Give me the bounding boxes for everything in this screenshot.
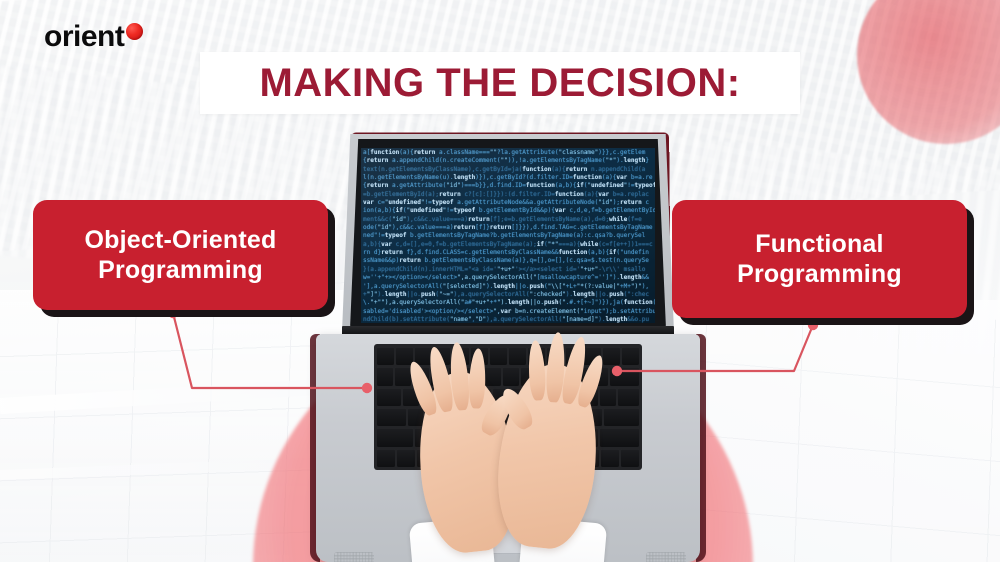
- keyboard-key: [621, 449, 639, 467]
- keyboard-key: [377, 428, 413, 446]
- keyboard-key: [377, 388, 401, 406]
- laptop-speaker-left: [334, 552, 374, 562]
- laptop-screen: a[function(a){return a.className===""?la…: [361, 148, 655, 323]
- laptop-speaker-right: [646, 552, 686, 562]
- brand-logo[interactable]: orient: [44, 20, 143, 54]
- keyboard-key: [600, 388, 616, 406]
- keyboard-key: [377, 449, 395, 467]
- keyboard-key: [408, 408, 424, 426]
- keyboard-key: [618, 388, 639, 406]
- keyboard-key: [610, 367, 639, 385]
- keyboard-key: [377, 408, 406, 426]
- option-card-object-oriented[interactable]: Object-Oriented Programming: [33, 200, 328, 310]
- red-sphere-dot-icon: [126, 23, 143, 40]
- title-banner: MAKING THE DECISION:: [200, 52, 800, 114]
- keyboard-key: [601, 449, 619, 467]
- laptop-illustration: a[function(a){return a.className===""?la…: [312, 128, 704, 562]
- keyboard-key: [397, 449, 415, 467]
- keyboard-key: [377, 347, 394, 365]
- screen-code-text: a[function(a){return a.className===""?la…: [363, 149, 655, 323]
- keyboard-key: [600, 428, 639, 446]
- option-card-functional[interactable]: Functional Programming: [672, 200, 967, 318]
- keyboard-key: [509, 347, 526, 365]
- option-card-label: Object-Oriented Programming: [85, 225, 277, 286]
- option-card-label: Functional Programming: [737, 229, 902, 290]
- keyboard-key: [603, 347, 620, 365]
- keyboard-key: [604, 408, 639, 426]
- keyboard-key: [622, 347, 639, 365]
- laptop-bezel: a[function(a){return a.className===""?la…: [350, 139, 666, 329]
- keyboard-key: [377, 367, 393, 385]
- brand-logo-text: orient: [44, 20, 124, 54]
- slide-canvas: a[function(a){return a.className===""?la…: [0, 0, 1000, 562]
- keyboard-key: [485, 367, 501, 385]
- keyboard-key: [490, 347, 507, 365]
- keyboard-key: [503, 367, 519, 385]
- keyboard-key: [395, 367, 411, 385]
- page-title: MAKING THE DECISION:: [259, 61, 740, 106]
